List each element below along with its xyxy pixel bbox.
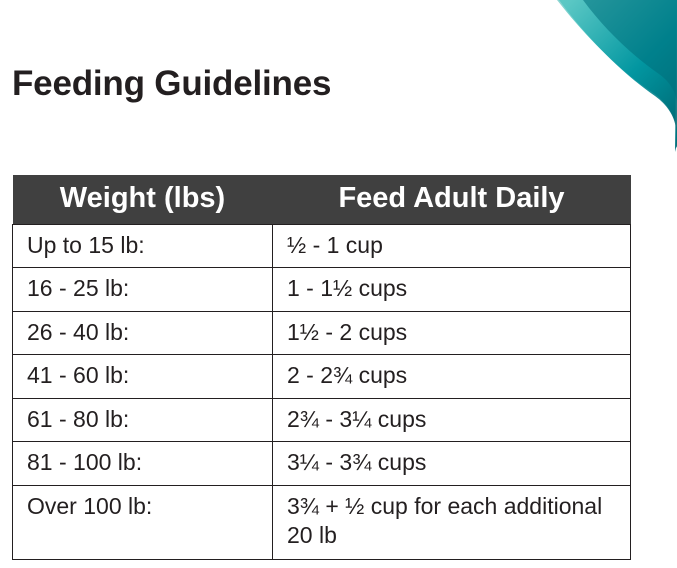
teal-swoosh-decoration xyxy=(437,0,677,200)
cell-weight: 41 - 60 lb: xyxy=(13,355,273,398)
cell-weight: 26 - 40 lb: xyxy=(13,311,273,354)
table-row: 16 - 25 lb: 1 - 1½ cups xyxy=(13,268,631,311)
page-title: Feeding Guidelines xyxy=(12,64,331,104)
feeding-guidelines-page: Feeding Guidelines Weight (lbs) Feed Adu… xyxy=(0,0,677,568)
table-row: 41 - 60 lb: 2 - 2¾ cups xyxy=(13,355,631,398)
column-header-feed: Feed Adult Daily xyxy=(273,175,631,225)
cell-weight: 81 - 100 lb: xyxy=(13,442,273,485)
table-row: Over 100 lb: 3¾ + ½ cup for each additio… xyxy=(13,485,631,559)
cell-weight: Over 100 lb: xyxy=(13,485,273,559)
cell-weight: 61 - 80 lb: xyxy=(13,398,273,441)
column-header-weight: Weight (lbs) xyxy=(13,175,273,225)
table-row: 26 - 40 lb: 1½ - 2 cups xyxy=(13,311,631,354)
cell-feed: 1 - 1½ cups xyxy=(273,268,631,311)
cell-feed: 1½ - 2 cups xyxy=(273,311,631,354)
cell-weight: Up to 15 lb: xyxy=(13,225,273,268)
cell-feed: 2 - 2¾ cups xyxy=(273,355,631,398)
cell-weight: 16 - 25 lb: xyxy=(13,268,273,311)
cell-feed: ½ - 1 cup xyxy=(273,225,631,268)
feeding-guidelines-table: Weight (lbs) Feed Adult Daily Up to 15 l… xyxy=(12,175,631,560)
table-row: 81 - 100 lb: 3¼ - 3¾ cups xyxy=(13,442,631,485)
table-row: 61 - 80 lb: 2¾ - 3¼ cups xyxy=(13,398,631,441)
table-header-row: Weight (lbs) Feed Adult Daily xyxy=(13,175,631,225)
table-row: Up to 15 lb: ½ - 1 cup xyxy=(13,225,631,268)
cell-feed: 3¾ + ½ cup for each additional 20 lb xyxy=(273,485,631,559)
cell-feed: 3¼ - 3¾ cups xyxy=(273,442,631,485)
cell-feed: 2¾ - 3¼ cups xyxy=(273,398,631,441)
